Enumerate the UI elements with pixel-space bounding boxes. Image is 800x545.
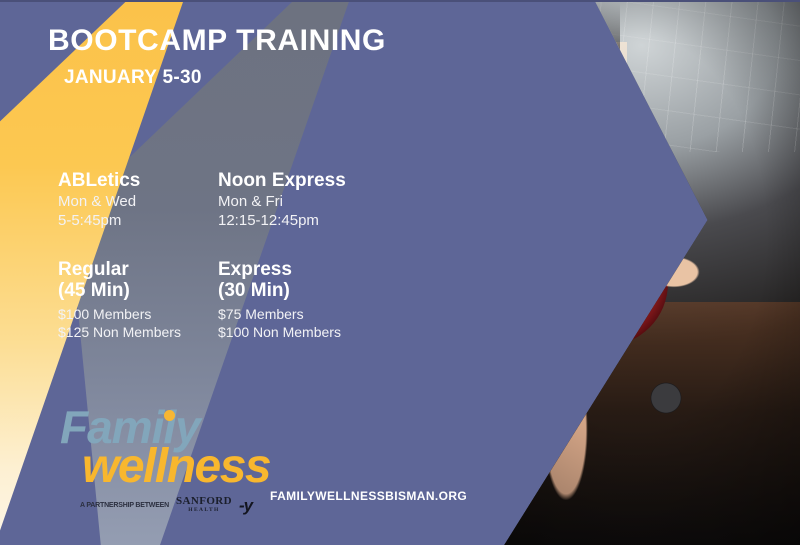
pricing-duration: (30 Min) bbox=[218, 281, 378, 302]
family-wellness-logo: Family wellness A PARTNERSHIP BETWEEN SA… bbox=[60, 406, 260, 514]
class-time: 5-5:45pm bbox=[58, 211, 218, 230]
pricing-card-regular: Regular (45 Min) $100 Members $125 Non M… bbox=[58, 260, 218, 341]
sanford-wordmark: SANFORD bbox=[176, 496, 232, 507]
page-title: BOOTCAMP TRAINING bbox=[48, 26, 386, 56]
sanford-subtext: HEALTH bbox=[176, 508, 232, 514]
pricing-card-express: Express (30 Min) $75 Members $100 Non Me… bbox=[218, 260, 378, 341]
logo-dot-icon bbox=[164, 410, 175, 421]
pricing-name: Express bbox=[218, 260, 378, 281]
logo-word-family: Family bbox=[60, 406, 200, 448]
pricing-section: Regular (45 Min) $100 Members $125 Non M… bbox=[58, 260, 378, 341]
bootcamp-training-flyer: BOOTCAMP TRAINING JANUARY 5-30 ABLetics … bbox=[0, 0, 800, 545]
class-card-abletics: ABLetics Mon & Wed 5-5:45pm bbox=[58, 170, 218, 230]
pricing-nonmember: $100 Non Members bbox=[218, 323, 378, 341]
partnership-row: A PARTNERSHIP BETWEEN SANFORD HEALTH -y bbox=[80, 496, 260, 514]
pricing-member: $75 Members bbox=[218, 305, 378, 323]
class-name: ABLetics bbox=[58, 170, 218, 192]
class-name: Noon Express bbox=[218, 170, 378, 192]
class-schedule: ABLetics Mon & Wed 5-5:45pm Noon Express… bbox=[58, 170, 378, 230]
pricing-member: $100 Members bbox=[58, 305, 218, 323]
partnership-label: A PARTNERSHIP BETWEEN bbox=[80, 502, 169, 509]
website-url[interactable]: FAMILYWELLNESSBISMAN.ORG bbox=[270, 489, 467, 503]
class-days: Mon & Fri bbox=[218, 192, 378, 211]
class-time: 12:15-12:45pm bbox=[218, 211, 378, 230]
sanford-health-logo: SANFORD HEALTH bbox=[176, 496, 232, 514]
ymca-logo-icon: -y bbox=[239, 497, 252, 514]
pricing-nonmember: $125 Non Members bbox=[58, 323, 218, 341]
class-days: Mon & Wed bbox=[58, 192, 218, 211]
pricing-duration: (45 Min) bbox=[58, 281, 218, 302]
pricing-name: Regular bbox=[58, 260, 218, 281]
title-block: BOOTCAMP TRAINING JANUARY 5-30 bbox=[48, 26, 386, 89]
event-dates: JANUARY 5-30 bbox=[64, 67, 386, 89]
class-card-noon-express: Noon Express Mon & Fri 12:15-12:45pm bbox=[218, 170, 378, 230]
